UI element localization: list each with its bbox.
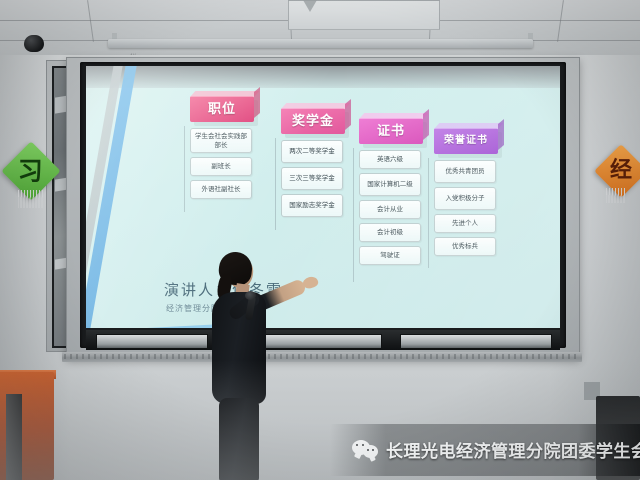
- wechat-icon: [352, 439, 378, 460]
- slide-item: 两次二等奖学金: [281, 140, 343, 163]
- slide-item: 国家励志奖学金: [281, 194, 343, 217]
- security-camera-icon: [24, 35, 44, 52]
- column-header-honor: 荣誉证书: [434, 128, 498, 154]
- projected-slide: 职位 学生会社会实践部部长 副班长 外语社副社长 奖学金 两次二等奖学金 三次三…: [86, 66, 560, 328]
- column-header-position: 职位: [190, 96, 254, 122]
- slide-column-honor: 荣誉证书 优秀共青团员 入党积极分子 先进个人 优秀标兵: [434, 128, 506, 256]
- slide-item: 外语社副社长: [190, 180, 252, 199]
- projector-screen-roller: [108, 39, 533, 48]
- slide-top-shadow: [86, 66, 560, 88]
- slide-item: 先进个人: [434, 214, 496, 233]
- watermark: 长理光电经济管理分院团委学生会: [352, 437, 640, 462]
- slide-item: 会计从业: [359, 200, 421, 219]
- column-header-scholarship: 奖学金: [281, 108, 345, 134]
- wall-decoration-left-glyph: 习: [18, 158, 43, 183]
- microphone-head-icon: [245, 291, 256, 300]
- slide-column-position: 职位 学生会社会实践部部长 副班长 外语社副社长: [190, 96, 262, 199]
- slide-column-scholarship: 奖学金 两次二等奖学金 三次三等奖学金 国家励志奖学金: [281, 108, 353, 217]
- column-header-position-label: 职位: [208, 103, 236, 116]
- classroom-photo-scene: AV 习 经 职位: [0, 0, 640, 480]
- decoration-tassel-right: [606, 188, 626, 203]
- marker-tray-texture: [64, 354, 580, 359]
- slide-item: 优秀标兵: [434, 237, 496, 256]
- slide-column-certificate: 证书 英语六级 国家计算机二级 会计从业 会计初级 驾驶证: [359, 118, 431, 265]
- column-header-certificate-label: 证书: [377, 125, 405, 138]
- slide-item: 国家计算机二级: [359, 173, 421, 196]
- slide-item: 入党积极分子: [434, 187, 496, 210]
- decoration-tassel-left: [18, 190, 44, 208]
- slide-item: 驾驶证: [359, 246, 421, 265]
- wall-decoration-right-glyph: 经: [610, 160, 632, 182]
- column-header-certificate: 证书: [359, 118, 423, 144]
- slide-item: 副班长: [190, 157, 252, 176]
- slide-item: 优秀共青团员: [434, 160, 496, 183]
- ceiling: [0, 0, 640, 60]
- column-header-honor-label: 荣誉证书: [444, 136, 488, 146]
- slide-item: 学生会社会实践部部长: [190, 128, 252, 153]
- watermark-text: 长理光电经济管理分院团委学生会: [386, 437, 640, 462]
- slide-item: 三次三等奖学金: [281, 167, 343, 190]
- slide-item: 会计初级: [359, 223, 421, 242]
- column-header-scholarship-label: 奖学金: [292, 115, 334, 128]
- slide-item: 英语六级: [359, 150, 421, 169]
